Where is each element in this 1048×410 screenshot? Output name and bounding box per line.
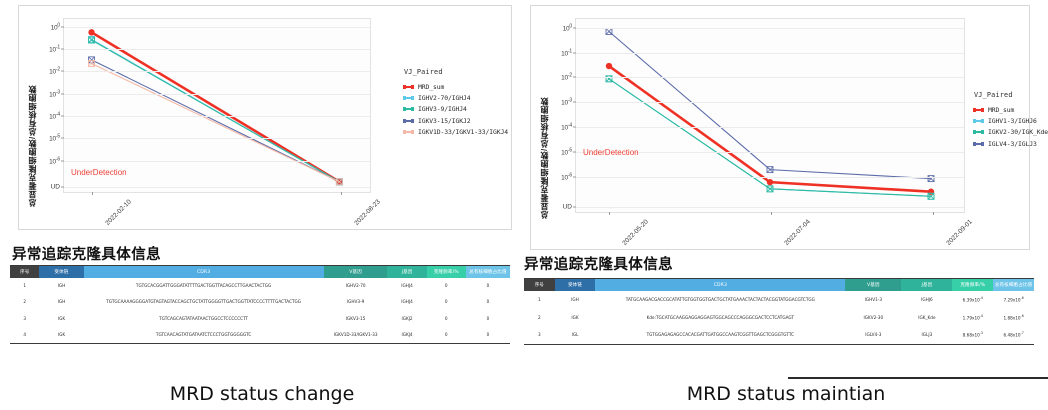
col-header-chain: 受体链: [39, 266, 83, 279]
cell-v-gene: IGKV3-15: [324, 311, 388, 327]
y-axis-tick-mark: [573, 102, 576, 103]
cell-j-gene: IGKJ2: [387, 311, 426, 327]
y-axis-tick-mark: [61, 138, 64, 139]
plot-area-left: 10010-110-210-310-410-510-6UD2022-02-102…: [63, 18, 371, 193]
col-header-j-gene: J基因: [901, 279, 952, 292]
x-axis-tick-mark: [771, 212, 772, 215]
cell-index: 4: [10, 327, 39, 344]
cell-index: 3: [524, 326, 555, 344]
data-point-marker: [88, 29, 94, 35]
legend-swatch-icon: [404, 131, 413, 133]
data-point-marker: [89, 60, 95, 66]
cell-cdr3: TATGCAAGACGACCGCATATTGTGGTGGTGACTGCTATGA…: [595, 291, 845, 308]
cell-chain: IGL: [555, 326, 596, 344]
y-axis-tick-mark: [573, 127, 576, 128]
legend-item[interactable]: IGKV2-30/IGK_Kde: [974, 128, 1048, 136]
cell-cdr3: TGTCAGCAGTATAATAACTGGCCTCCCCCCTT: [84, 311, 324, 327]
gridline: [64, 71, 370, 72]
cell-frequency: 1.79x10-4: [952, 309, 993, 326]
panel-divider: [788, 377, 1048, 379]
legend-item-label: IGHV3-9/IGHJ4: [418, 105, 467, 113]
gridline: [64, 138, 370, 139]
y-axis-tick-mark: [61, 115, 64, 116]
data-point-marker: [767, 179, 773, 185]
under-detection-annotation-left: UnderDetection: [71, 168, 127, 177]
cell-ratio: 0: [466, 278, 510, 294]
panel-mrd-status-maintain: 总显著克隆细胞数/总有核细胞数 10010-110-210-310-410-51…: [524, 0, 1048, 410]
gridline: [64, 187, 370, 188]
legend-item-label: IGHV1-3/IGHJ6: [988, 117, 1037, 125]
table-row[interactable]: 1IGHTATGCAAGACGACCGCATATTGTGGTGGTGACTGCT…: [524, 291, 1034, 308]
y-axis-tick-label: 10-6: [49, 156, 60, 165]
y-axis-tick-label: 10-4: [49, 111, 60, 120]
legend-swatch-icon: [404, 86, 413, 88]
cell-j-gene: IGK_Kde: [901, 309, 952, 326]
cell-frequency: 6.39x10-4: [952, 291, 993, 308]
x-axis-tick-mark: [341, 192, 342, 195]
cell-chain: IGH: [39, 278, 83, 294]
series-layer-right: [576, 19, 964, 213]
gridline: [576, 177, 964, 178]
y-axis-tick-label-ud: UD: [563, 203, 572, 210]
gridline: [64, 116, 370, 117]
cell-ratio: 1.88x10-6: [993, 309, 1034, 326]
gridline: [64, 161, 370, 162]
chart-card-left: 总显著克隆细胞数/总有核细胞数 10010-110-210-310-410-51…: [18, 5, 512, 230]
col-header-v-gene: V基因: [845, 279, 901, 292]
table-row[interactable]: 3IGLTGTGGAGAGAGCCACACGATTGATGGCCAAGTCGGT…: [524, 326, 1034, 344]
data-point-marker: [606, 63, 612, 69]
gridline: [64, 49, 370, 50]
gridline: [576, 77, 964, 78]
series-line: [609, 79, 931, 196]
x-axis-tick-label: 2022-07-04: [783, 218, 811, 246]
x-axis-tick-label: 2022-02-10: [104, 198, 132, 226]
cell-chain: IGK: [39, 311, 83, 327]
cell-v-gene: IGKV1D-33/IGKV1-33: [324, 327, 388, 344]
legend-swatch-icon: [974, 109, 983, 111]
col-header-index: 序号: [524, 279, 555, 292]
x-axis-tick-label: 2022-05-20: [621, 218, 649, 246]
cell-cdr3: TGTGCAAAAGGGGATGTAGTAGTACCAGCTGCTATTGGGG…: [84, 294, 324, 310]
clone-info-table-left: 序号 受体链 CDR3 V基因 J基因 克隆频率/% 总有核细胞占比值 1IGH…: [10, 265, 510, 344]
legend-item[interactable]: IGKV1D-33/IGKV1-33/IGKJ4: [404, 128, 508, 136]
cell-ratio: 7.29x10-6: [993, 291, 1034, 308]
cell-v-gene: IGKV2-30: [845, 309, 901, 326]
cell-chain: IGH: [39, 294, 83, 310]
cell-index: 1: [10, 278, 39, 294]
cell-v-gene: IGHV2-70: [324, 278, 388, 294]
legend-item[interactable]: IGLV4-3/IGLJ3: [974, 140, 1048, 148]
y-axis-tick-label: 10-4: [561, 122, 572, 131]
legend-swatch-icon: [404, 97, 413, 99]
panel-mrd-status-change: 总显著克隆细胞数/总有核细胞数 10010-110-210-310-410-51…: [0, 0, 524, 410]
legend-left: VJ_Paired MRD_sumIGHV2-70/IGHJ4IGHV3-9/I…: [404, 68, 508, 139]
cell-v-gene: IGHV3-9: [324, 294, 388, 310]
legend-item[interactable]: IGKV3-15/IGKJ2: [404, 117, 508, 125]
legend-item[interactable]: IGHV2-70/IGHJ4: [404, 94, 508, 102]
gridline: [576, 28, 964, 29]
col-header-j-gene: J基因: [387, 266, 426, 279]
cell-frequency: 8.68x10-3: [952, 326, 993, 344]
legend-item-label: IGLV4-3/IGLJ3: [988, 140, 1037, 148]
figure-caption-left: MRD status change: [0, 383, 524, 405]
legend-item-label: IGKV2-30/IGK_Kde: [988, 128, 1048, 136]
y-axis-tick-label: 10-3: [561, 98, 572, 107]
y-axis-title-left: 总显著克隆细胞数/总有核细胞数: [27, 22, 38, 207]
cell-ratio: 0: [466, 294, 510, 310]
cell-index: 3: [10, 311, 39, 327]
table-header-row: 序号 受体链 CDR3 V基因 J基因 克隆频率/% 总有核细胞占比值: [10, 266, 510, 279]
y-axis-tick-mark: [61, 160, 64, 161]
y-axis-tick-label: 10-6: [561, 172, 572, 181]
legend-swatch-icon: [404, 120, 413, 122]
table-wrap-left: 序号 受体链 CDR3 V基因 J基因 克隆频率/% 总有核细胞占比值 1IGH…: [10, 265, 510, 344]
series-layer-left: [64, 19, 370, 193]
col-header-ratio: 总有核细胞占比值: [993, 279, 1034, 292]
series-line: [92, 63, 340, 181]
y-axis-tick-label: 10-1: [49, 45, 60, 54]
table-row[interactable]: 2IGHTGTGCAAAAGGGGATGTAGTAGTACCAGCTGCTATT…: [10, 294, 510, 310]
under-detection-annotation-right: UnderDetection: [583, 148, 639, 157]
cell-j-gene: IGHJ4: [387, 278, 426, 294]
cell-v-gene: IGLV4-3: [845, 326, 901, 344]
table-heading-right: 异常追踪克隆具体信息: [524, 253, 673, 274]
y-axis-tick-mark: [573, 52, 576, 53]
y-axis-tick-label-ud: UD: [51, 184, 60, 191]
y-axis-tick-mark: [61, 71, 64, 72]
y-axis-tick-mark: [573, 176, 576, 177]
cell-chain: IGH: [555, 291, 596, 308]
col-header-ratio: 总有核细胞占比值: [466, 266, 510, 279]
cell-cdr3: TGTGCACGGATTGGGATATTTTGACTGGTTACAGCCTTGA…: [84, 278, 324, 294]
legend-item-label: IGKV3-15/IGKJ2: [418, 117, 470, 125]
cell-chain: IGK: [39, 327, 83, 344]
cell-v-gene: IGHV1-3: [845, 291, 901, 308]
legend-swatch-icon: [974, 120, 983, 122]
gridline: [64, 94, 370, 95]
table-row[interactable]: 2IGKKde:TGCATGCAAGGAGGAGGAGTGGCAGCCCAGGG…: [524, 309, 1034, 326]
y-axis-tick-mark: [573, 206, 576, 207]
y-axis-tick-label: 10-5: [561, 147, 572, 156]
cell-frequency: 0: [427, 294, 466, 310]
col-header-index: 序号: [10, 266, 39, 279]
y-axis-tick-label: 10-2: [561, 73, 572, 82]
x-axis-tick-mark: [609, 212, 610, 215]
clone-info-table-right: 序号 受体链 CDR3 V基因 J基因 克隆频率/% 总有核细胞占比值 1IGH…: [524, 278, 1034, 345]
col-header-v-gene: V基因: [324, 266, 388, 279]
gridline: [576, 53, 964, 54]
series-line: [609, 31, 931, 178]
y-axis-tick-label: 100: [563, 23, 572, 32]
plot-area-right: 10010-110-210-310-410-510-6UD2022-05-202…: [575, 18, 965, 213]
figure-caption-right: MRD status maintian: [524, 383, 1048, 405]
data-point-marker: [89, 57, 95, 63]
cell-j-gene: IGLJ3: [901, 326, 952, 344]
legend-right: VJ_Paired MRD_sumIGHV1-3/IGHJ6IGKV2-30/I…: [974, 91, 1048, 151]
cell-cdr3: TGTGGAGAGAGCCACACGATTGATGGCCAAGTCGGTTGAG…: [595, 326, 845, 344]
legend-item-label: IGKV1D-33/IGKV1-33/IGKJ4: [418, 128, 508, 136]
cell-cdr3: TGTCAACAGTATGATAATCTCCCTGGTGGGGGTC: [84, 327, 324, 344]
legend-item[interactable]: MRD_sum: [404, 83, 508, 91]
y-axis-tick-mark: [573, 151, 576, 152]
y-axis-tick-label: 100: [51, 22, 60, 31]
y-axis-tick-label: 10-1: [561, 48, 572, 57]
table-row[interactable]: 3IGKTGTCAGCAGTATAATAACTGGCCTCCCCCCTTIGKV…: [10, 311, 510, 327]
table-row[interactable]: 4IGKTGTCAACAGTATGATAATCTCCCTGGTGGGGGTCIG…: [10, 327, 510, 344]
x-axis-tick-mark: [933, 212, 934, 215]
col-header-chain: 受体链: [555, 279, 596, 292]
cell-ratio: 0: [466, 311, 510, 327]
legend-swatch-icon: [974, 131, 983, 133]
cell-cdr3: Kde:TGCATGCAAGGAGGAGGAGTGGCAGCCCAGGGCGAC…: [595, 309, 845, 326]
y-axis-title-right: 总显著克隆细胞数/总有核细胞数: [539, 24, 550, 219]
table-row[interactable]: 1IGHTGTGCACGGATTGGGATATTTTGACTGGTTACAGCC…: [10, 278, 510, 294]
cell-index: 2: [10, 294, 39, 310]
cell-index: 2: [524, 309, 555, 326]
y-axis-tick-label: 10-5: [49, 134, 60, 143]
gridline: [576, 102, 964, 103]
x-axis-tick-label: 2022-08-23: [354, 198, 382, 226]
y-axis-tick-mark: [61, 26, 64, 27]
legend-swatch-icon: [404, 108, 413, 110]
data-point-marker: [606, 28, 612, 34]
col-header-frequency: 克隆频率/%: [952, 279, 993, 292]
gridline: [576, 127, 964, 128]
table-header-row: 序号 受体链 CDR3 V基因 J基因 克隆频率/% 总有核细胞占比值: [524, 279, 1034, 292]
y-axis-tick-mark: [61, 49, 64, 50]
legend-item-label: MRD_sum: [418, 83, 444, 91]
y-axis-tick-mark: [61, 93, 64, 94]
legend-swatch-icon: [974, 143, 983, 145]
cell-j-gene: IGKJ4: [387, 327, 426, 344]
y-axis-tick-label: 10-2: [49, 67, 60, 76]
legend-title-right: VJ_Paired: [974, 91, 1048, 99]
gridline: [64, 27, 370, 28]
x-axis-tick-mark: [92, 192, 93, 195]
series-line: [609, 79, 931, 196]
cell-frequency: 0: [427, 311, 466, 327]
cell-ratio: 6.48x10-7: [993, 326, 1034, 344]
table-wrap-right: 序号 受体链 CDR3 V基因 J基因 克隆频率/% 总有核细胞占比值 1IGH…: [524, 278, 1034, 345]
figure-root: 总显著克隆细胞数/总有核细胞数 10010-110-210-310-410-51…: [0, 0, 1048, 410]
col-header-frequency: 克隆频率/%: [427, 266, 466, 279]
table-heading-left: 异常追踪克隆具体信息: [12, 243, 161, 264]
legend-title-left: VJ_Paired: [404, 68, 508, 76]
cell-frequency: 0: [427, 327, 466, 344]
series-line: [92, 32, 340, 181]
y-axis-tick-mark: [61, 187, 64, 188]
cell-index: 1: [524, 291, 555, 308]
y-axis-tick-mark: [573, 77, 576, 78]
chart-card-right: 总显著克隆细胞数/总有核细胞数 10010-110-210-310-410-51…: [530, 5, 1030, 250]
cell-ratio: 0: [466, 327, 510, 344]
legend-item-label: IGHV2-70/IGHJ4: [418, 94, 470, 102]
legend-item[interactable]: IGHV1-3/IGHJ6: [974, 117, 1048, 125]
col-header-cdr3: CDR3: [84, 266, 324, 279]
gridline: [576, 207, 964, 208]
y-axis-tick-label: 10-3: [49, 89, 60, 98]
cell-j-gene: IGHJ6: [901, 291, 952, 308]
cell-frequency: 0: [427, 278, 466, 294]
cell-chain: IGK: [555, 309, 596, 326]
x-axis-tick-label: 2022-09-01: [945, 218, 973, 246]
legend-item[interactable]: MRD_sum: [974, 106, 1048, 114]
col-header-cdr3: CDR3: [595, 279, 845, 292]
y-axis-tick-mark: [573, 27, 576, 28]
legend-item[interactable]: IGHV3-9/IGHJ4: [404, 105, 508, 113]
legend-item-label: MRD_sum: [988, 106, 1014, 114]
cell-j-gene: IGHJ4: [387, 294, 426, 310]
